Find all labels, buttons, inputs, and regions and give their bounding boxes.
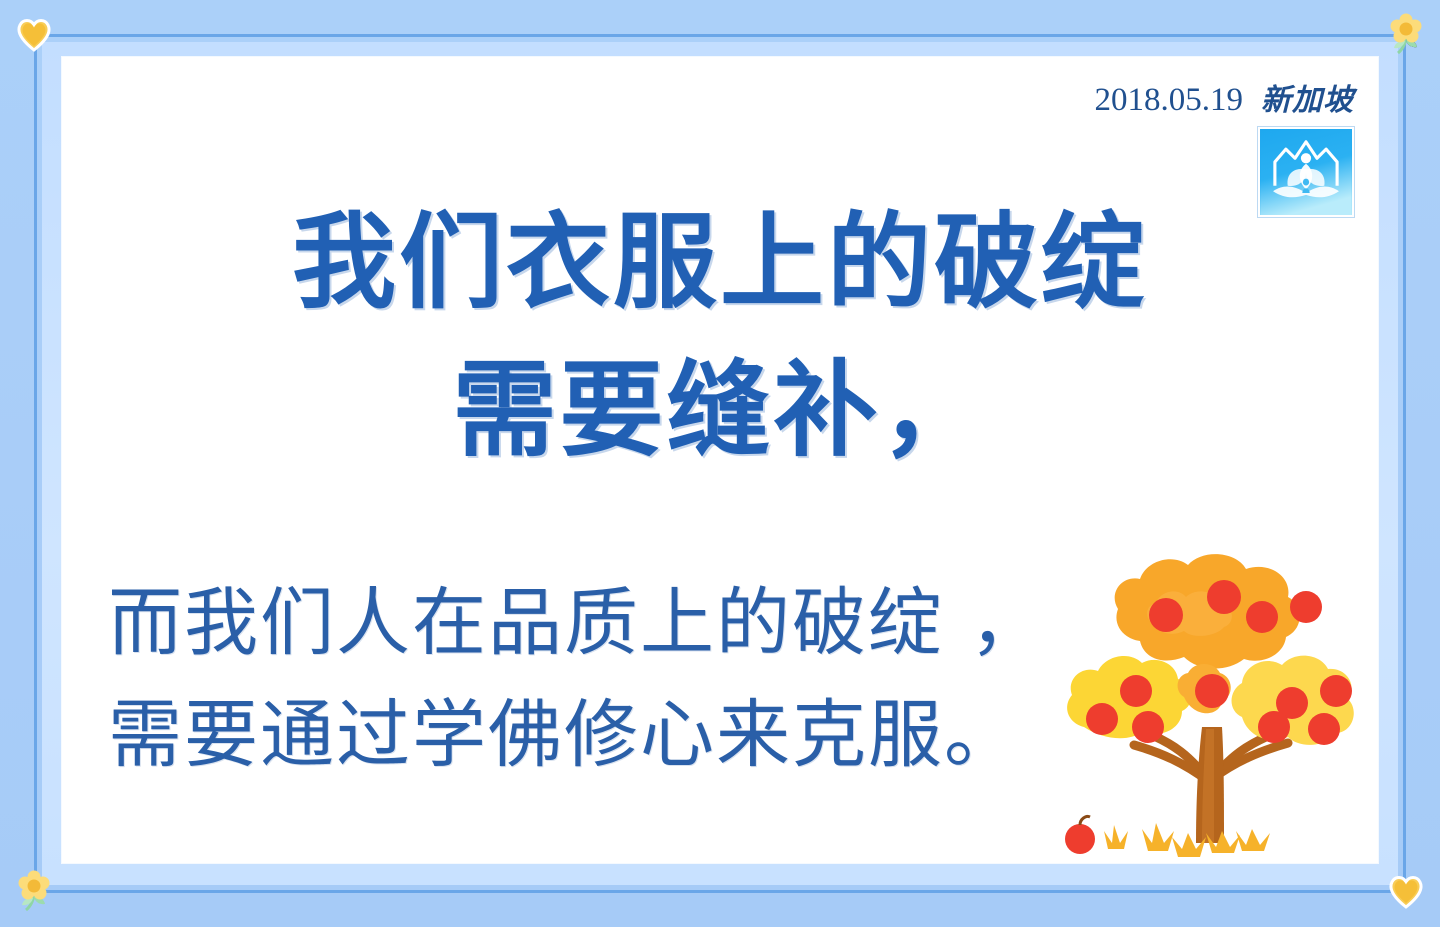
corner-ornament-bottom-left [14,869,54,913]
fallen-apple [1065,816,1095,854]
headline-line-1: 我们衣服上的破绽 [292,201,1148,323]
content-card: 2018.05.19 新加坡 [62,57,1378,863]
header-line: 2018.05.19 新加坡 [1095,75,1355,119]
corner-ornament-top-right [1386,12,1426,56]
poster-root: 2018.05.19 新加坡 [0,0,1440,927]
heart-icon [1386,869,1426,913]
body-line-2: 需要通过学佛修心来克服。 [108,679,1188,791]
flower-icon [1386,12,1426,56]
corner-ornament-bottom-right [1386,869,1426,913]
heart-icon [14,12,54,56]
flower-icon [14,869,54,913]
corner-ornament-top-left [14,12,54,56]
date-text: 2018.05.19 [1095,82,1244,119]
place-text: 新加坡 [1261,75,1354,119]
body-line-1: 而我们人在品质上的破绽 ， [108,567,1188,679]
apple-tree-illustration [1056,531,1366,861]
headline: 我们衣服上的破绽 需要缝补， [62,189,1378,484]
headline-line-2: 需要缝补， [62,337,1378,485]
grass-tufts [1104,823,1270,857]
body-text: 而我们人在品质上的破绽 ， 需要通过学佛修心来克服。 [108,567,1188,792]
